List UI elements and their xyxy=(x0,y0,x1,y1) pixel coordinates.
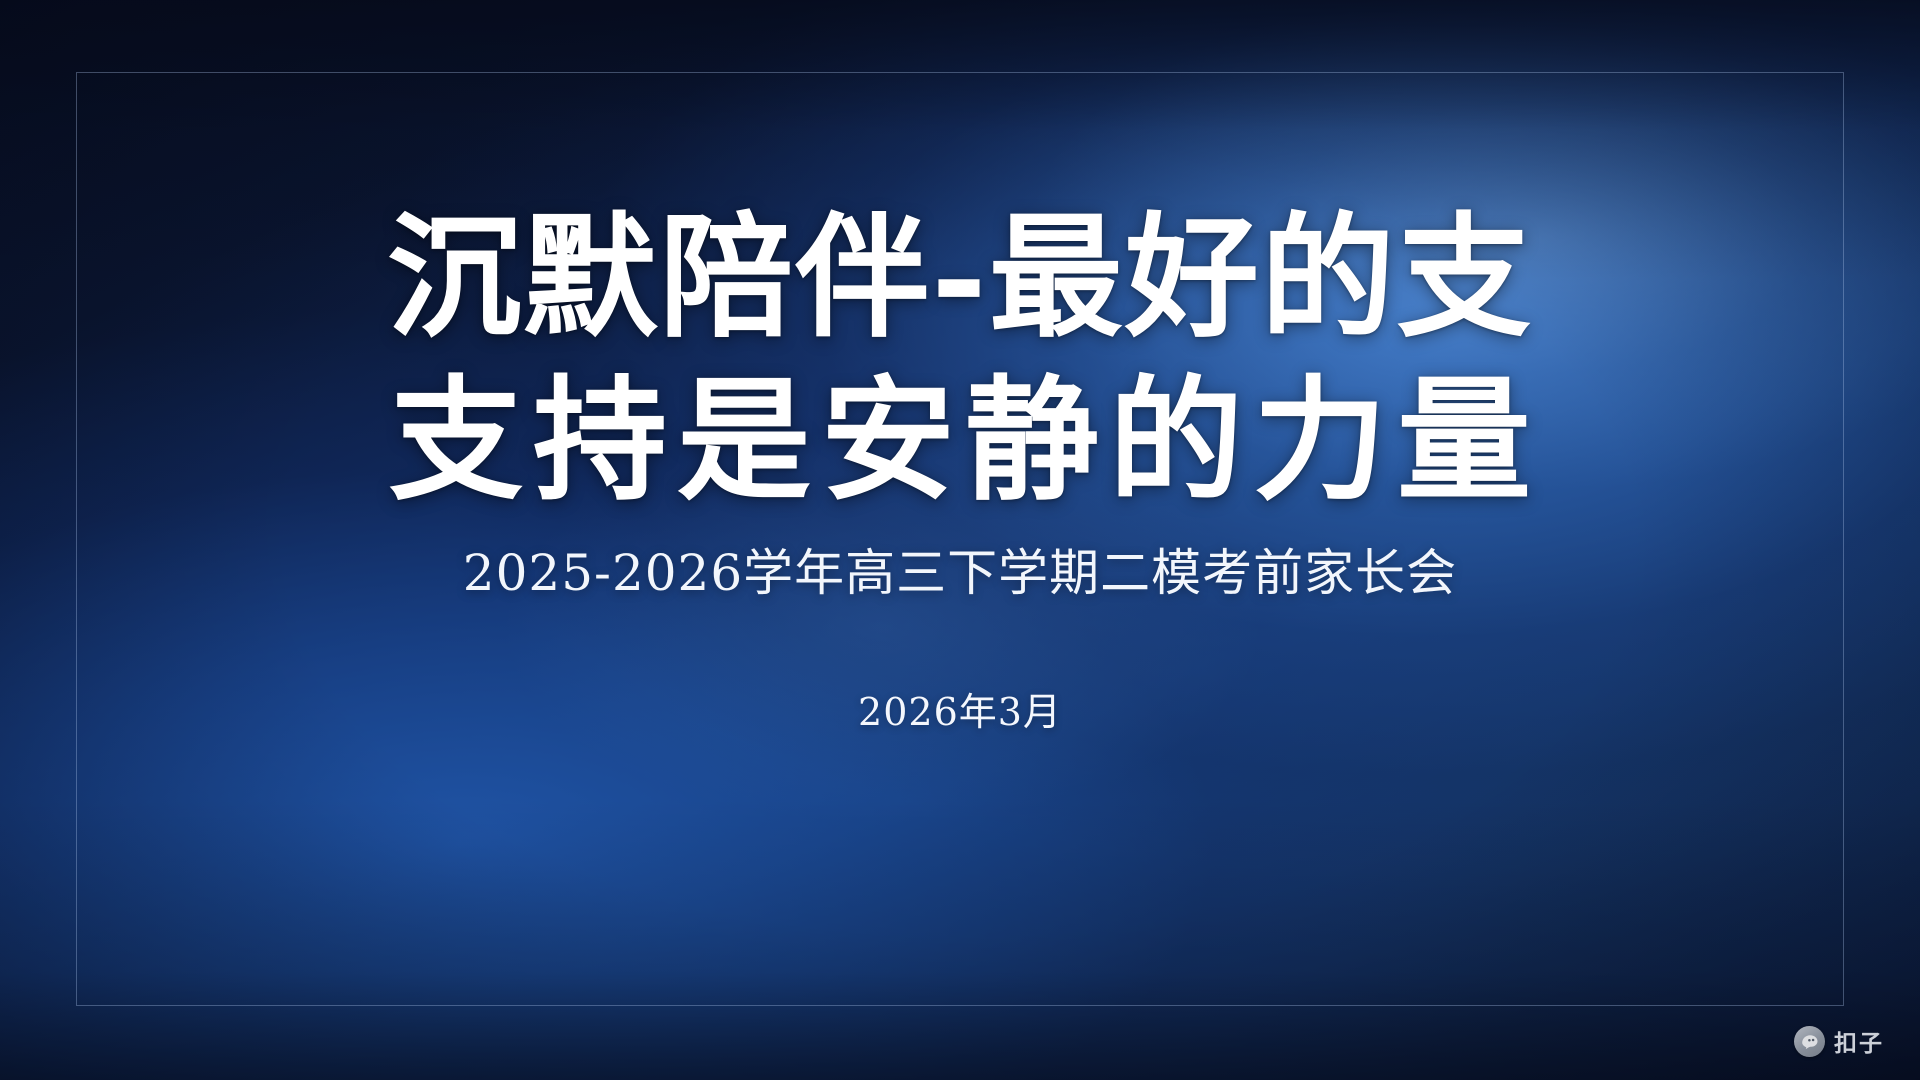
slide-subtitle: 2025-2026学年高三下学期二模考前家长会 xyxy=(463,543,1457,603)
coze-bean-icon xyxy=(1794,1026,1825,1057)
watermark: 扣子 xyxy=(1794,1024,1884,1058)
title-block: 沉默陪伴-最好的支 支持是安静的力量 xyxy=(180,196,1740,523)
title-slide: 沉默陪伴-最好的支 支持是安静的力量 2025-2026学年高三下学期二模考前家… xyxy=(0,0,1920,1080)
slide-title-line-1: 沉默陪伴-最好的支 xyxy=(180,196,1740,359)
slide-content: 沉默陪伴-最好的支 支持是安静的力量 2025-2026学年高三下学期二模考前家… xyxy=(0,0,1920,1080)
watermark-label: 扣子 xyxy=(1834,1024,1884,1058)
slide-date: 2026年3月 xyxy=(858,681,1062,736)
slide-title-line-2: 支持是安静的力量 xyxy=(180,359,1740,522)
